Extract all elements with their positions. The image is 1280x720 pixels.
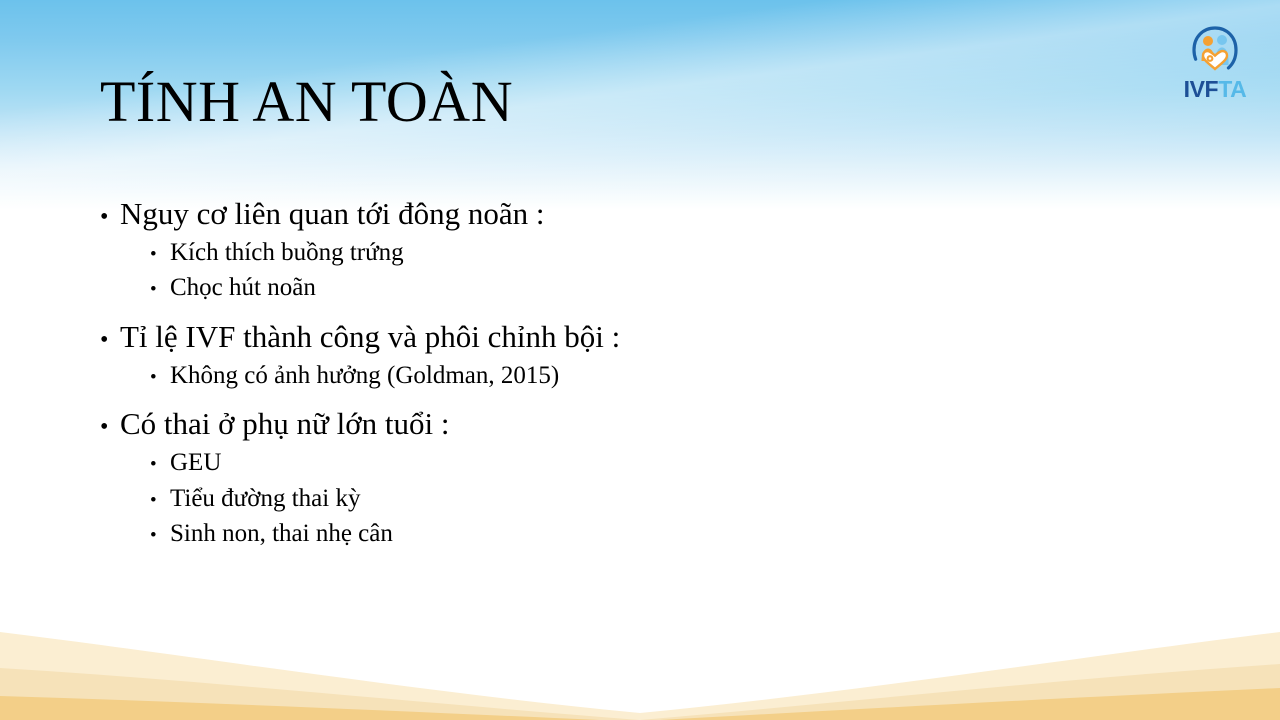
bullet-level2: • Không có ảnh hưởng (Goldman, 2015): [150, 361, 1100, 391]
sub-bullet-marker-icon: •: [150, 455, 170, 474]
bullet-level2-text: Không có ảnh hưởng (Goldman, 2015): [170, 361, 559, 391]
ivfta-family-heart-icon: [1184, 25, 1246, 77]
bullet-level1-text: Tỉ lệ IVF thành công và phôi chỉnh bội :: [120, 319, 620, 355]
bullet-level1-text: Có thai ở phụ nữ lớn tuổi :: [120, 406, 449, 442]
sub-bullet-marker-icon: •: [150, 368, 170, 387]
bullet-level2-text: Sinh non, thai nhẹ cân: [170, 519, 393, 549]
bullet-level2-text: Kích thích buồng trứng: [170, 238, 404, 268]
bullet-marker-icon: •: [100, 205, 120, 229]
sub-bullet-list: • Kích thích buồng trứng • Chọc hút noãn: [100, 238, 1100, 303]
bullet-level1: • Tỉ lệ IVF thành công và phôi chỉnh bội…: [100, 319, 1100, 355]
slide-title: TÍNH AN TOÀN: [100, 72, 513, 133]
bullet-level2: • Chọc hút noãn: [150, 273, 1100, 303]
bullet-level2-text: Chọc hút noãn: [170, 273, 316, 303]
bullet-level1: • Có thai ở phụ nữ lớn tuổi :: [100, 406, 1100, 442]
bullet-level1-text: Nguy cơ liên quan tới đông noãn :: [120, 196, 545, 232]
logo-word-ivf: IVF: [1184, 76, 1219, 102]
sub-bullet-marker-icon: •: [150, 280, 170, 299]
ivfta-logo: IVFTA: [1175, 25, 1255, 103]
bullet-level2: • Sinh non, thai nhẹ cân: [150, 519, 1100, 549]
sub-bullet-marker-icon: •: [150, 491, 170, 510]
bullet-group: • Nguy cơ liên quan tới đông noãn : • Kí…: [100, 196, 1100, 303]
slide-canvas: TÍNH AN TOÀN IVFTA • Nguy cơ liên quan t…: [0, 0, 1280, 720]
slide-body: • Nguy cơ liên quan tới đông noãn : • Kí…: [100, 196, 1100, 551]
bullet-marker-icon: •: [100, 328, 120, 352]
bullet-level1: • Nguy cơ liên quan tới đông noãn :: [100, 196, 1100, 232]
bullet-group: • Có thai ở phụ nữ lớn tuổi : • GEU • Ti…: [100, 406, 1100, 548]
logo-wordmark: IVFTA: [1175, 78, 1255, 101]
sub-bullet-list: • GEU • Tiểu đường thai kỳ • Sinh non, t…: [100, 448, 1100, 549]
logo-word-ta: TA: [1218, 76, 1246, 102]
bottom-wave-decoration: [0, 580, 1280, 720]
sub-bullet-list: • Không có ảnh hưởng (Goldman, 2015): [100, 361, 1100, 391]
bullet-marker-icon: •: [100, 415, 120, 439]
sub-bullet-marker-icon: •: [150, 245, 170, 264]
bullet-level2: • GEU: [150, 448, 1100, 478]
bullet-level2: • Tiểu đường thai kỳ: [150, 484, 1100, 514]
bullet-level2-text: GEU: [170, 448, 221, 478]
bullet-level2-text: Tiểu đường thai kỳ: [170, 484, 360, 514]
sub-bullet-marker-icon: •: [150, 526, 170, 545]
bullet-group: • Tỉ lệ IVF thành công và phôi chỉnh bội…: [100, 319, 1100, 390]
bullet-level2: • Kích thích buồng trứng: [150, 238, 1100, 268]
